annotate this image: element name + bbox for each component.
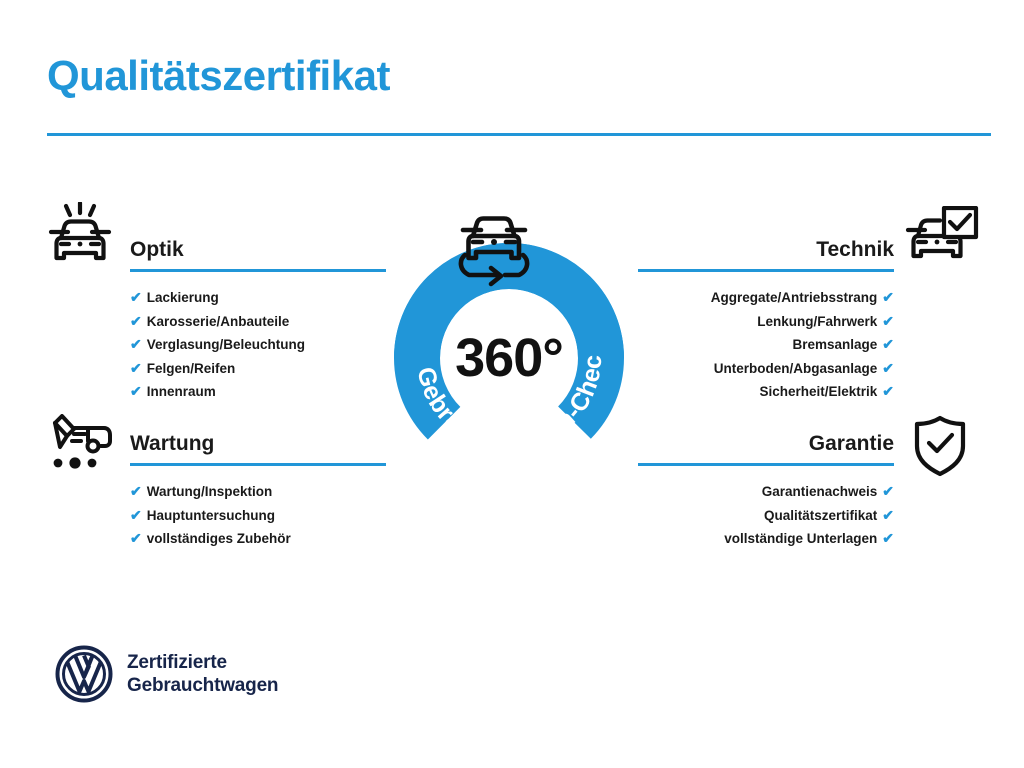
list-item-label: Qualitätszertifikat [764, 508, 877, 523]
list-item: Bremsanlage✔ [638, 333, 894, 357]
list-item-label: vollständige Unterlagen [724, 531, 877, 546]
footer-brand-text: Zertifizierte Gebrauchtwagen [127, 651, 278, 697]
list-item: ✔vollständiges Zubehör [130, 527, 386, 551]
list-item: ✔Karosserie/Anbauteile [130, 310, 386, 334]
section-underline-optik [130, 269, 386, 272]
list-item-label: Garantienachweis [762, 484, 878, 499]
section-heading-wartung: Wartung [130, 432, 386, 455]
badge-center-label: 360° [455, 328, 563, 388]
list-item-label: Wartung/Inspektion [147, 484, 273, 499]
car-shine-icon [44, 202, 116, 277]
check-icon: ✔ [882, 483, 894, 499]
list-item-label: vollständiges Zubehör [147, 531, 291, 546]
list-item-label: Verglasung/Beleuchtung [147, 337, 305, 352]
check-icon: ✔ [882, 289, 894, 305]
list-item: Lenkung/Fahrwerk✔ [638, 310, 894, 334]
list-item: Unterboden/Abgasanlage✔ [638, 357, 894, 381]
list-item: ✔Verglasung/Beleuchtung [130, 333, 386, 357]
list-item-label: Lenkung/Fahrwerk [757, 314, 877, 329]
footer-brand-line1: Zertifizierte [127, 651, 278, 674]
check-icon: ✔ [130, 313, 142, 329]
list-item-label: Karosserie/Anbauteile [147, 314, 290, 329]
check-icon: ✔ [882, 360, 894, 376]
check-icon: ✔ [882, 383, 894, 399]
section-underline-garantie [638, 463, 894, 466]
list-item: ✔Felgen/Reifen [130, 357, 386, 381]
check-icon: ✔ [882, 336, 894, 352]
section-technik: Technik Aggregate/Antriebsstrang✔ Lenkun… [638, 238, 894, 404]
list-item: ✔Lackierung [130, 286, 386, 310]
list-item: ✔Wartung/Inspektion [130, 480, 386, 504]
title-divider [47, 133, 991, 136]
check-icon: ✔ [882, 530, 894, 546]
check-icon: ✔ [130, 530, 142, 546]
section-heading-garantie: Garantie [638, 432, 894, 455]
section-underline-wartung [130, 463, 386, 466]
list-item-label: Aggregate/Antriebsstrang [711, 290, 878, 305]
list-item: ✔Hauptuntersuchung [130, 504, 386, 528]
shield-check-icon [908, 414, 972, 483]
section-heading-optik: Optik [130, 238, 386, 261]
list-item-label: Sicherheit/Elektrik [759, 384, 877, 399]
checklist-technik: Aggregate/Antriebsstrang✔ Lenkung/Fahrwe… [638, 286, 894, 404]
check-icon: ✔ [130, 483, 142, 499]
list-item-label: Unterboden/Abgasanlage [714, 361, 878, 376]
gebrauchtwagen-check-badge: Gebrauchtwagen-Check 360° [375, 198, 643, 488]
list-item: Sicherheit/Elektrik✔ [638, 380, 894, 404]
checklist-wartung: ✔Wartung/Inspektion ✔Hauptuntersuchung ✔… [130, 480, 386, 551]
list-item: Garantienachweis✔ [638, 480, 894, 504]
section-garantie: Garantie Garantienachweis✔ Qualitätszert… [638, 432, 894, 551]
list-item-label: Hauptuntersuchung [147, 508, 275, 523]
list-item-label: Innenraum [147, 384, 216, 399]
section-wartung: Wartung ✔Wartung/Inspektion ✔Hauptunters… [130, 432, 386, 551]
footer-brand-line2: Gebrauchtwagen [127, 674, 278, 697]
section-optik: Optik ✔Lackierung ✔Karosserie/Anbauteile… [130, 238, 386, 404]
car-pencil-service-icon [44, 414, 116, 481]
list-item: vollständige Unterlagen✔ [638, 527, 894, 551]
list-item-label: Bremsanlage [792, 337, 877, 352]
list-item-label: Lackierung [147, 290, 219, 305]
list-item-label: Felgen/Reifen [147, 361, 236, 376]
page-title: Qualitätszertifikat [47, 55, 390, 97]
check-icon: ✔ [130, 383, 142, 399]
car-checkbox-icon [904, 206, 980, 277]
list-item: Aggregate/Antriebsstrang✔ [638, 286, 894, 310]
section-underline-technik [638, 269, 894, 272]
check-icon: ✔ [130, 507, 142, 523]
check-icon: ✔ [882, 313, 894, 329]
check-icon: ✔ [130, 289, 142, 305]
footer-brand-lockup: Zertifizierte Gebrauchtwagen [55, 645, 278, 703]
check-icon: ✔ [882, 507, 894, 523]
check-icon: ✔ [130, 360, 142, 376]
list-item: Qualitätszertifikat✔ [638, 504, 894, 528]
check-icon: ✔ [130, 336, 142, 352]
list-item: ✔Innenraum [130, 380, 386, 404]
checklist-garantie: Garantienachweis✔ Qualitätszertifikat✔ v… [638, 480, 894, 551]
checklist-optik: ✔Lackierung ✔Karosserie/Anbauteile ✔Verg… [130, 286, 386, 404]
volkswagen-logo [55, 645, 113, 703]
section-heading-technik: Technik [638, 238, 894, 261]
